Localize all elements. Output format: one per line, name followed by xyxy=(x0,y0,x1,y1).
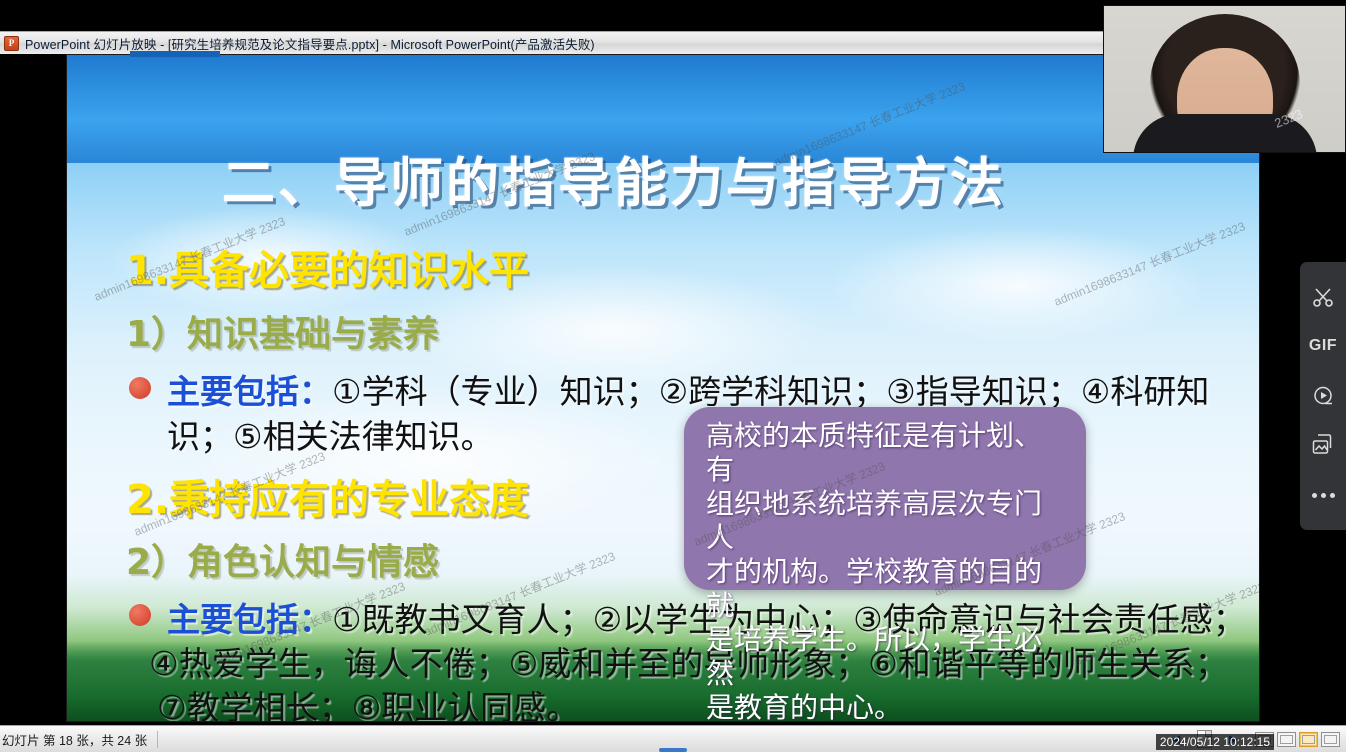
bullet-1-line-1: 主要包括：①学科（专业）知识；②跨学科知识；③指导知识；④科研知 xyxy=(167,365,1209,413)
bullet-dot-icon xyxy=(129,377,151,399)
bullet-2-line-3: ⑦教学相长；⑧职业认同感。 xyxy=(157,681,579,722)
more-options-icon[interactable] xyxy=(1306,478,1340,512)
timestamp-overlay: 2024/05/12 10:12:15 xyxy=(1156,734,1274,750)
section-sub-1: 1）知识基础与素养 xyxy=(126,305,439,357)
taskbar-tab-indicator[interactable] xyxy=(130,51,220,57)
bullet-2-lead: 主要包括： xyxy=(167,600,332,639)
screen-root: P PowerPoint 幻灯片放映 - [研究生培养规范及论文指导要点.ppt… xyxy=(0,0,1346,752)
slide-canvas[interactable]: 二、导师的指导能力与指导方法 1.具备必要的知识水平 1）知识基础与素养 主要包… xyxy=(66,54,1260,722)
bullet-1-line-2: 识；⑤相关法律知识。 xyxy=(167,410,494,458)
taskbar-indicator xyxy=(659,748,687,752)
letterbox-left xyxy=(0,54,66,722)
window-title: PowerPoint 幻灯片放映 - [研究生培养规范及论文指导要点.pptx]… xyxy=(25,34,595,53)
cloud-shape xyxy=(827,225,1207,345)
slideshow-view-button[interactable] xyxy=(1321,732,1340,747)
record-play-icon[interactable] xyxy=(1306,379,1340,413)
bullet-1-text-1: ①学科（专业）知识；②跨学科知识；③指导知识；④科研知 xyxy=(332,372,1209,411)
gif-icon[interactable]: GIF xyxy=(1306,329,1340,363)
section-heading-1: 1.具备必要的知识水平 xyxy=(126,238,529,296)
webcam-overlay[interactable]: 2323 xyxy=(1103,5,1346,153)
callout-box[interactable]: 高校的本质特征是有计划、有 组织地系统培养高层次专门人 才的机构。学校教育的目的… xyxy=(684,407,1086,590)
gif-label: GIF xyxy=(1309,337,1337,355)
reading-view-button[interactable] xyxy=(1299,732,1318,747)
slide-counter: 幻灯片 第 18 张，共 24 张 xyxy=(0,730,147,749)
callout-text: 高校的本质特征是有计划、有 组织地系统培养高层次专门人 才的机构。学校教育的目的… xyxy=(706,419,1068,722)
slide-sorter-button[interactable] xyxy=(1277,732,1296,747)
side-toolbar: GIF xyxy=(1300,262,1346,530)
section-sub-2: 2）角色认知与情感 xyxy=(126,533,439,585)
bullet-1-lead: 主要包括： xyxy=(167,372,332,411)
section-heading-2: 2.秉持应有的专业态度 xyxy=(126,467,529,525)
powerpoint-icon: P xyxy=(4,36,19,51)
page-title: 二、导师的指导能力与指导方法 xyxy=(222,141,1006,217)
bullet-dot-icon xyxy=(129,604,151,626)
scissors-icon[interactable] xyxy=(1306,280,1340,314)
status-divider xyxy=(157,731,158,748)
screenshot-icon[interactable] xyxy=(1306,429,1340,463)
